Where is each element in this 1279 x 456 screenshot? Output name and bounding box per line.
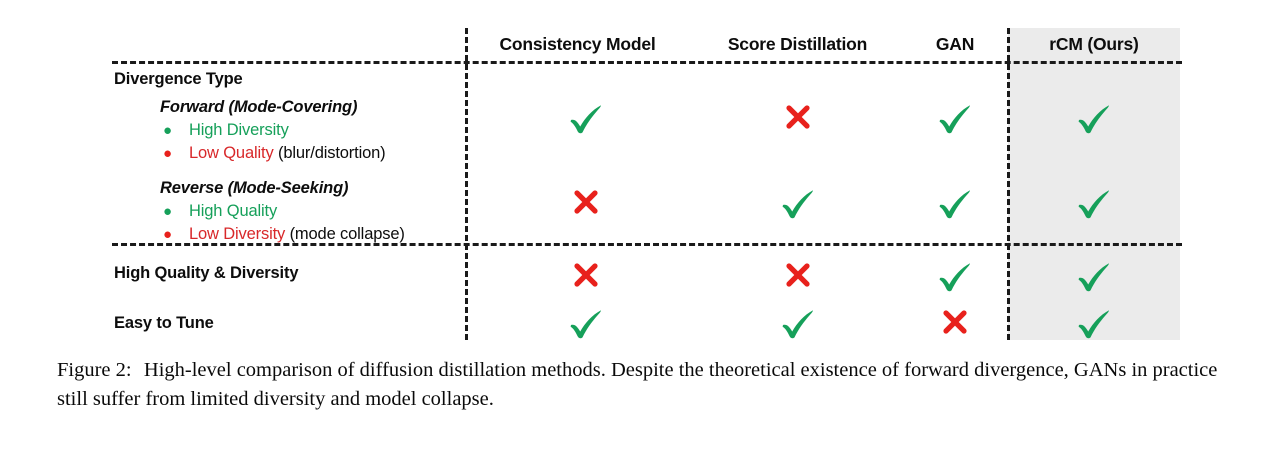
mark-hqd-consistency-model [556,261,616,289]
mark-forward-consistency-model [556,103,616,135]
header-divider-rule [112,61,1182,64]
mark-forward-rcm-ours [1064,103,1124,135]
column-header-consistency-model: Consistency Model [470,34,685,55]
bullet-dot-icon: ● [163,123,189,138]
group-name-reverse: Reverse [160,179,223,197]
group-qualifier-forward: (Mode-Covering) [228,98,357,116]
group-qualifier-reverse: (Mode-Seeking) [228,179,349,197]
label-column-rule [465,28,468,340]
mark-hqd-rcm-ours [1064,261,1124,293]
bullet-high-quality: ● High Quality [163,202,277,221]
bullet-emphasis: Low Diversity [189,225,285,243]
mark-reverse-score-distillation [768,188,828,220]
column-header-score-distillation: Score Distillation [690,34,905,55]
mark-easy-score-distillation [768,308,828,340]
row-label-high-quality-diversity: High Quality & Diversity [114,264,298,283]
bullet-low-quality: ● Low Quality (blur/distortion) [163,144,386,163]
group-label-reverse: Reverse (Mode-Seeking) [160,179,348,198]
mark-forward-gan [925,103,985,135]
mark-hqd-gan [925,261,985,293]
figure-caption-text: High-level comparison of diffusion disti… [57,359,1217,410]
figure-caption-number: Figure 2: [57,359,132,381]
figure-caption: Figure 2: High-level comparison of diffu… [57,356,1225,414]
mark-hqd-score-distillation [768,261,828,289]
mark-reverse-gan [925,188,985,220]
bullet-rest: (blur/distortion) [274,144,386,162]
mark-reverse-consistency-model [556,188,616,216]
bullet-low-diversity: ● Low Diversity (mode collapse) [163,225,405,244]
bullet-rest: (mode collapse) [285,225,405,243]
row-label-easy-to-tune: Easy to Tune [114,314,214,333]
section-title-divergence-type: Divergence Type [114,70,243,89]
mark-easy-rcm-ours [1064,308,1124,340]
ours-column-rule [1007,28,1010,340]
group-name-forward: Forward [160,98,224,116]
bullet-dot-icon: ● [163,227,189,242]
bullet-dot-icon: ● [163,146,189,161]
mark-reverse-rcm-ours [1064,188,1124,220]
bullet-emphasis: High Quality [189,202,277,220]
bullet-dot-icon: ● [163,204,189,219]
bullet-emphasis: Low Quality [189,144,274,162]
highlight-column-rcm [1008,28,1180,340]
bullet-high-diversity: ● High Diversity [163,121,289,140]
comparison-figure: Consistency Model Score Distillation GAN… [0,0,1279,348]
group-label-forward: Forward (Mode-Covering) [160,98,357,117]
mark-easy-gan [925,308,985,336]
bullet-emphasis: High Diversity [189,121,289,139]
column-header-rcm-ours: rCM (Ours) [1010,34,1178,55]
column-header-gan: GAN [905,34,1005,55]
mark-forward-score-distillation [768,103,828,131]
mark-easy-consistency-model [556,308,616,340]
